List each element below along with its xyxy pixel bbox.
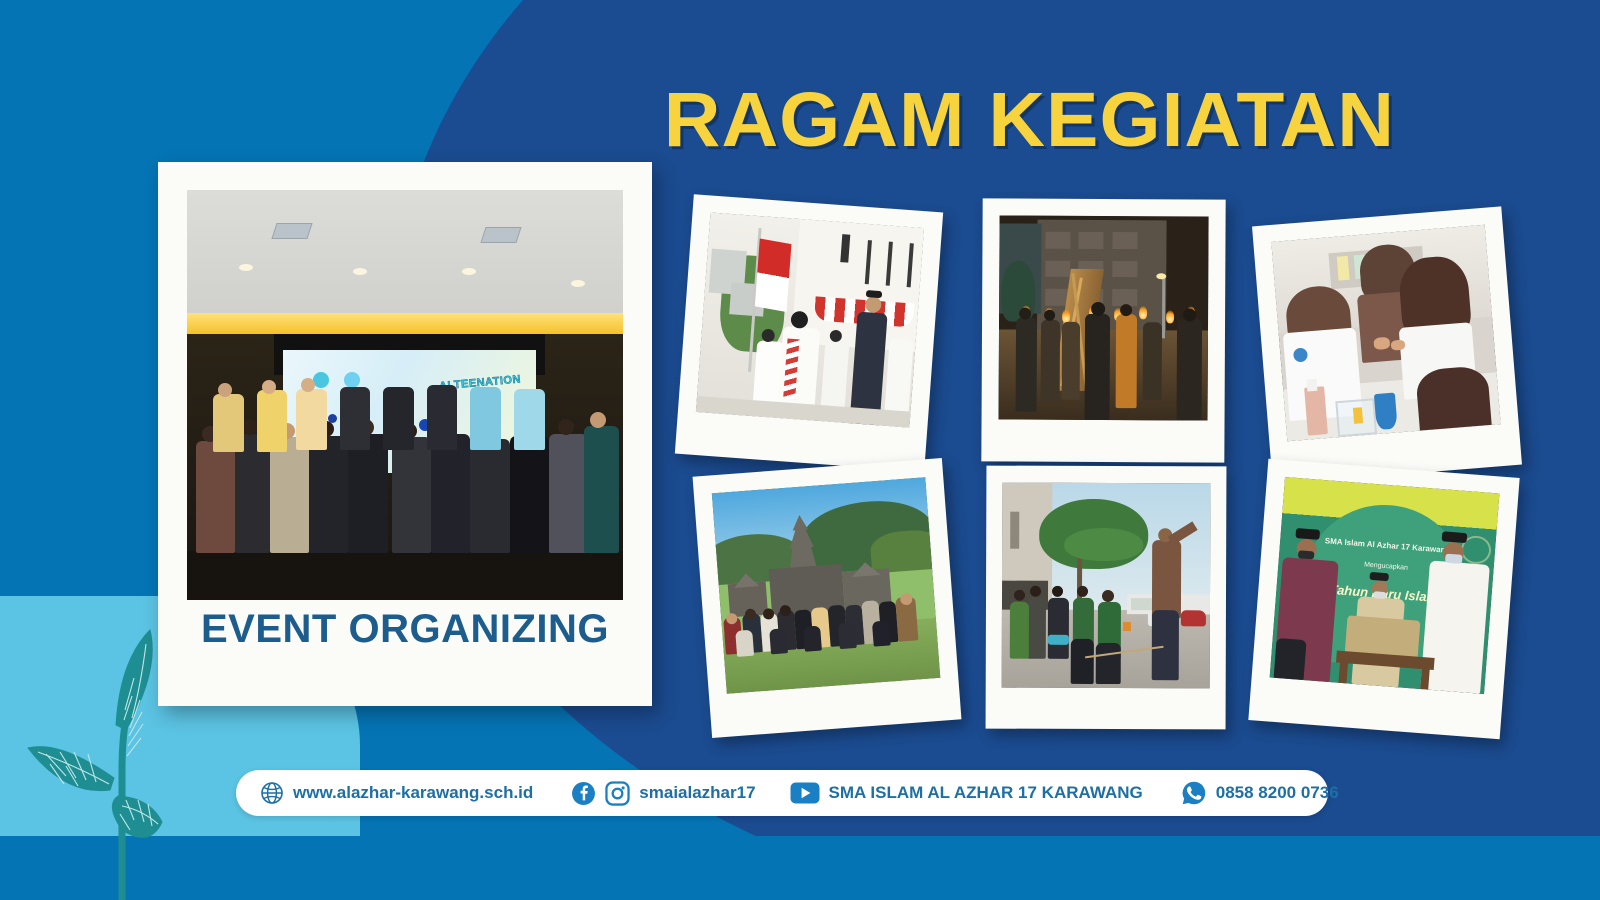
youtube-icon [790, 782, 820, 804]
photo-outdoor-games [1002, 483, 1211, 689]
gallery-photo-islamic-new-year[interactable]: SMA Islam Al Azhar 17 Karawang Mengucapk… [1248, 459, 1519, 740]
facebook-icon [571, 781, 596, 806]
footer-social[interactable]: smaialazhar17 [571, 781, 755, 806]
gallery-photo-flag-ceremony[interactable] [675, 194, 943, 472]
gallery-photo-outdoor-games[interactable] [986, 466, 1227, 730]
page-title: RAGAM KEGIATAN [664, 82, 1511, 159]
background-bottom-strip [0, 836, 1600, 900]
feature-photo: ALTEENATION 4.0 [187, 190, 623, 600]
photo-field-trip-temple [712, 477, 940, 693]
globe-icon [260, 781, 284, 805]
photo-science-lab [1271, 225, 1500, 442]
photo-islamic-new-year: SMA Islam Al Azhar 17 Karawang Mengucapk… [1270, 477, 1500, 694]
gallery-photo-field-trip-temple[interactable] [693, 458, 962, 738]
footer-whatsapp[interactable]: 0858 8200 0736 [1181, 780, 1339, 806]
feature-caption: EVENT ORGANIZING [158, 607, 652, 652]
photo-torch-night [999, 215, 1209, 420]
footer-youtube[interactable]: SMA ISLAM AL AZHAR 17 KARAWANG [790, 782, 1143, 804]
footer-social-handle: smaialazhar17 [639, 783, 755, 803]
photo-flag-ceremony [696, 212, 924, 427]
feature-polaroid-card[interactable]: ALTEENATION 4.0 [158, 162, 652, 706]
footer-youtube-text: SMA ISLAM AL AZHAR 17 KARAWANG [829, 783, 1143, 803]
footer-phone: 0858 8200 0736 [1216, 783, 1339, 803]
gallery-photo-science-lab[interactable] [1252, 206, 1522, 484]
poster-canvas: RAGAM KEGIATAN ALTEENATION 4.0 [0, 0, 1600, 900]
footer-website-text: www.alazhar-karawang.sch.id [293, 783, 533, 803]
footer-website[interactable]: www.alazhar-karawang.sch.id [260, 781, 533, 805]
contact-footer-bar: www.alazhar-karawang.sch.id smaialazhar1… [236, 770, 1328, 816]
instagram-icon [605, 781, 630, 806]
gallery-photo-torch-night[interactable] [981, 198, 1225, 462]
whatsapp-icon [1181, 780, 1207, 806]
